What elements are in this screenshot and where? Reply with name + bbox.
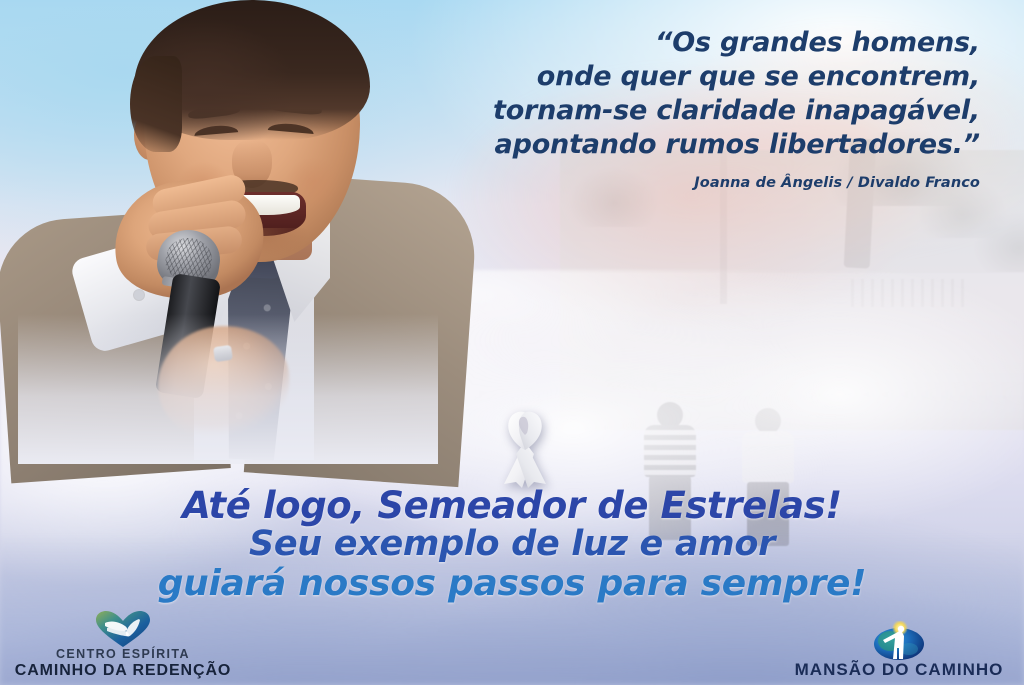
logo-right-title: MANSÃO DO CAMINHO (795, 661, 1004, 679)
white-awareness-ribbon-icon (486, 408, 564, 488)
logo-centro-espirita-caminho-da-redencao[interactable]: CENTRO ESPÍRITA CAMINHO DA REDENÇÃO (8, 610, 238, 679)
headline-line-2: Seu exemplo de luz e amor (0, 525, 1024, 564)
globe-figure-icon (873, 623, 925, 661)
logo-left-subtitle: CENTRO ESPÍRITA (15, 648, 232, 662)
logo-left-title: CAMINHO DA REDENÇÃO (15, 662, 232, 679)
portrait-fade-mask (18, 314, 438, 464)
quote-block: “Os grandes homens, onde quer que se enc… (440, 26, 980, 191)
cuff-button (134, 290, 144, 300)
logo-mansao-do-caminho[interactable]: MANSÃO DO CAMINHO (784, 623, 1014, 679)
hair-sideburn (130, 56, 182, 152)
headline-line-3: guiará nossos passos para sempre! (0, 564, 1024, 603)
headline-block: Até logo, Semeador de Estrelas! Seu exem… (0, 486, 1024, 603)
heart-hands-icon (95, 610, 151, 648)
headline-line-1: Até logo, Semeador de Estrelas! (0, 486, 1024, 525)
quote-line-1: “Os grandes homens, (440, 26, 980, 60)
quote-line-2: onde quer que se encontrem, (440, 60, 980, 94)
portrait-photo (18, 0, 438, 464)
quote-attribution: Joanna de Ângelis / Divaldo Franco (440, 175, 980, 191)
quote-line-4: apontando rumos libertadores.” (440, 128, 980, 162)
logo-left-text: CENTRO ESPÍRITA CAMINHO DA REDENÇÃO (15, 648, 232, 679)
logo-right-text: MANSÃO DO CAMINHO (795, 661, 1004, 679)
memorial-poster: “Os grandes homens, onde quer que se enc… (0, 0, 1024, 685)
quote-line-3: tornam-se claridade inapagável, (440, 94, 980, 128)
